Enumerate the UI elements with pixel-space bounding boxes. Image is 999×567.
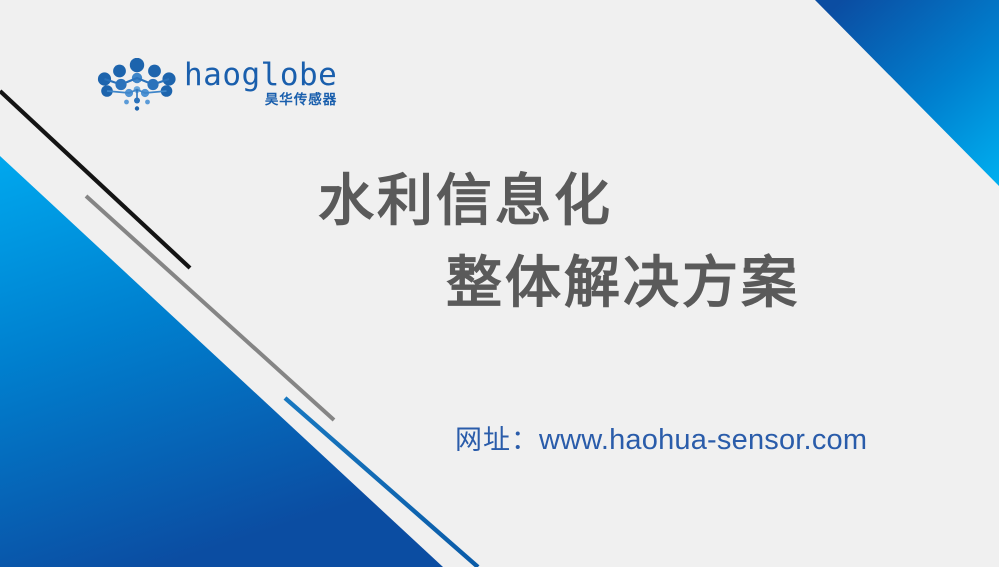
website-url[interactable]: 网址：www.haohua-sensor.com — [455, 420, 867, 460]
company-logo: haoglobe 昊华传感器 — [96, 58, 326, 120]
url-value[interactable]: www.haohua-sensor.com — [539, 424, 867, 456]
url-label: 网址： — [455, 425, 539, 455]
logo-wordmark: haoglobe — [184, 60, 337, 91]
molecular-dot-cluster-icon — [96, 58, 178, 116]
presentation-title-slide: haoglobe 昊华传感器 水利信息化 整体解决方案 网址：www.haohu… — [0, 0, 999, 567]
logo-subtitle: 昊华传感器 — [265, 92, 338, 107]
